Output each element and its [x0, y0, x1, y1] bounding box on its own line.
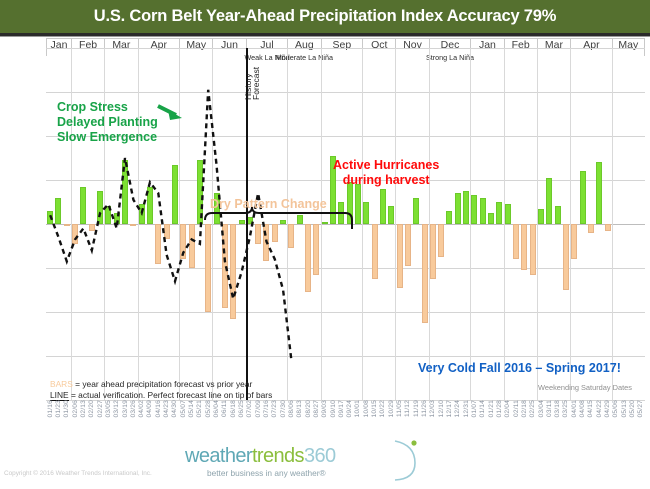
- x-axis-tick-label: 02/20: [88, 400, 95, 418]
- annotation-crop-stress-line3: Slow Emergence: [57, 130, 158, 145]
- month-header-top-rule: [46, 38, 645, 39]
- brand-logo: weathertrends360 better business in any …: [185, 443, 465, 483]
- x-axis-tick-label: 01/07: [471, 400, 478, 418]
- x-axis-tick-label: 10/08: [363, 400, 370, 418]
- x-axis-tick-label: 07/23: [271, 400, 278, 418]
- legend-bars-text: = year ahead precipitation forecast vs p…: [73, 379, 252, 389]
- x-axis-tick-label: 02/04: [504, 400, 511, 418]
- slide-root: U.S. Corn Belt Year-Ahead Precipitation …: [0, 0, 650, 489]
- x-axis-tick-label: 03/26: [130, 400, 137, 418]
- x-axis-tick-label: 05/27: [637, 400, 644, 418]
- x-axis-tick-label: 11/05: [396, 400, 403, 417]
- x-axis-tick-label: 02/06: [72, 400, 79, 418]
- x-axis-tick-label: 06/04: [213, 400, 220, 418]
- history-forecast-divider: [246, 48, 248, 400]
- x-axis-labels: 01/1601/2301/3002/0602/1302/2002/2703/05…: [46, 400, 645, 442]
- forecast-label: Forecast: [251, 67, 261, 100]
- x-axis-tick-label: 03/12: [113, 400, 120, 418]
- x-axis-tick-label: 07/02: [246, 400, 253, 418]
- x-axis-tick-label: 08/27: [313, 400, 320, 418]
- slide-title-bar: U.S. Corn Belt Year-Ahead Precipitation …: [0, 0, 650, 33]
- annotation-crop-stress: Crop Stress Delayed Planting Slow Emerge…: [57, 100, 158, 145]
- legend-line-text: = actual verification. Perfect forecast …: [69, 390, 273, 400]
- legend-bars: BARS = year ahead precipitation forecast…: [50, 379, 252, 389]
- x-axis-tick-label: 10/01: [354, 400, 361, 418]
- x-axis-tick-label: 01/28: [496, 400, 503, 418]
- chart-area: Year-Over-Year Change (Bars) JanFebMarAp…: [0, 38, 650, 438]
- x-axis-tick-label: 04/15: [587, 400, 594, 418]
- x-axis-tick-label: 12/03: [429, 400, 436, 418]
- x-axis-tick-label: 05/20: [629, 400, 636, 418]
- x-axis-tick-label: 12/17: [446, 400, 453, 418]
- x-axis-tick-label: 08/13: [296, 400, 303, 418]
- x-axis-tick-label: 09/03: [321, 400, 328, 418]
- logo-word-360: 360: [304, 445, 336, 467]
- x-axis-tick-label: 10/29: [388, 400, 395, 418]
- x-axis-tick-label: 09/17: [338, 400, 345, 418]
- x-axis-tick-label: 06/18: [230, 400, 237, 418]
- x-axis-tick-label: 01/23: [55, 400, 62, 418]
- x-axis-tick-label: 05/21: [196, 400, 203, 418]
- x-axis-tick-label: 04/29: [604, 400, 611, 418]
- x-axis-tick-label: 03/05: [105, 400, 112, 418]
- x-axis-tick-label: 10/15: [371, 400, 378, 418]
- title-rule-secondary: [0, 36, 650, 37]
- x-axis-tick-label: 05/06: [612, 400, 619, 418]
- x-axis-tick-label: 05/28: [205, 400, 212, 418]
- x-axis-tick-label: 11/12: [404, 400, 411, 417]
- logo-wordmark: weathertrends360: [185, 445, 336, 468]
- x-axis-tick-label: 03/11: [546, 400, 553, 417]
- x-axis-tick-label: 04/08: [579, 400, 586, 418]
- x-axis-tick-label: 04/30: [171, 400, 178, 418]
- x-axis-tick-label: 06/25: [238, 400, 245, 418]
- x-axis-tick-label: 05/13: [621, 400, 628, 418]
- x-axis-tick-label: 06/11: [221, 400, 228, 417]
- x-axis-tick-label: 04/16: [155, 400, 162, 418]
- logo-word-weather: weather: [185, 445, 252, 467]
- x-axis-tick-label: 03/18: [554, 400, 561, 418]
- annotation-hurricanes: Active Hurricanes during harvest: [333, 158, 439, 188]
- x-axis-tick-label: 04/02: [138, 400, 145, 418]
- x-axis-tick-label: 09/10: [330, 400, 337, 418]
- x-axis-tick-label: 12/31: [463, 400, 470, 418]
- x-axis-tick-label: 08/20: [305, 400, 312, 418]
- logo-tagline: better business in any weather®: [207, 468, 326, 478]
- legend-bars-keyword: BARS: [50, 379, 73, 389]
- annotation-hurricanes-line1: Active Hurricanes: [333, 158, 439, 173]
- x-axis-note: Weekending Saturday Dates: [538, 383, 632, 392]
- copyright-notice: Copyright © 2016 Weather Trends Internat…: [4, 470, 152, 477]
- x-axis-tick-label: 11/19: [413, 400, 420, 417]
- x-axis-tick-label: 02/11: [513, 400, 520, 417]
- annotation-dry-pattern: Dry Pattern Change: [210, 197, 327, 211]
- x-axis-tick-label: 05/07: [180, 400, 187, 418]
- x-axis-tick-label: 04/22: [596, 400, 603, 418]
- x-axis-tick-label: 07/30: [280, 400, 287, 418]
- logo-swoosh-icon: [385, 439, 425, 485]
- x-axis-tick-label: 12/10: [438, 400, 445, 418]
- x-axis-tick-label: 09/24: [346, 400, 353, 418]
- logo-word-trends: trends: [252, 445, 304, 467]
- x-axis-tick-label: 04/23: [163, 400, 170, 418]
- x-axis-tick-label: 04/09: [146, 400, 153, 418]
- x-axis-tick-label: 02/18: [521, 400, 528, 418]
- x-axis-tick-label: 07/16: [263, 400, 270, 418]
- annotation-crop-stress-line1: Crop Stress: [57, 100, 158, 115]
- x-axis-tick-label: 03/19: [122, 400, 129, 418]
- x-axis-tick-label: 01/21: [488, 400, 495, 418]
- x-axis-tick-label: 04/01: [571, 400, 578, 418]
- annotation-cold-fall: Very Cold Fall 2016 – Spring 2017!: [418, 361, 621, 375]
- x-axis-tick-label: 02/27: [97, 400, 104, 418]
- annotation-hurricanes-line2: during harvest: [333, 173, 439, 188]
- x-axis-tick-label: 01/14: [479, 400, 486, 418]
- x-axis-tick-label: 03/25: [562, 400, 569, 418]
- x-axis-tick-label: 08/06: [288, 400, 295, 418]
- x-axis-tick-label: 11/26: [421, 400, 428, 417]
- annotation-crop-stress-line2: Delayed Planting: [57, 115, 158, 130]
- page-title: U.S. Corn Belt Year-Ahead Precipitation …: [94, 7, 556, 26]
- x-axis-tick-label: 12/24: [454, 400, 461, 418]
- x-axis-tick-label: 02/25: [529, 400, 536, 418]
- x-axis-tick-label: 01/30: [63, 400, 70, 418]
- legend-line: LINE = actual verification. Perfect fore…: [50, 390, 272, 400]
- x-axis-tick-label: 02/13: [80, 400, 87, 418]
- x-axis-tick-label: 05/14: [188, 400, 195, 418]
- x-axis-tick-label: 07/09: [255, 400, 262, 418]
- x-axis-tick-label: 03/04: [538, 400, 545, 418]
- x-axis-tick-label: 01/16: [47, 400, 54, 418]
- x-axis-tick-label: 10/22: [379, 400, 386, 418]
